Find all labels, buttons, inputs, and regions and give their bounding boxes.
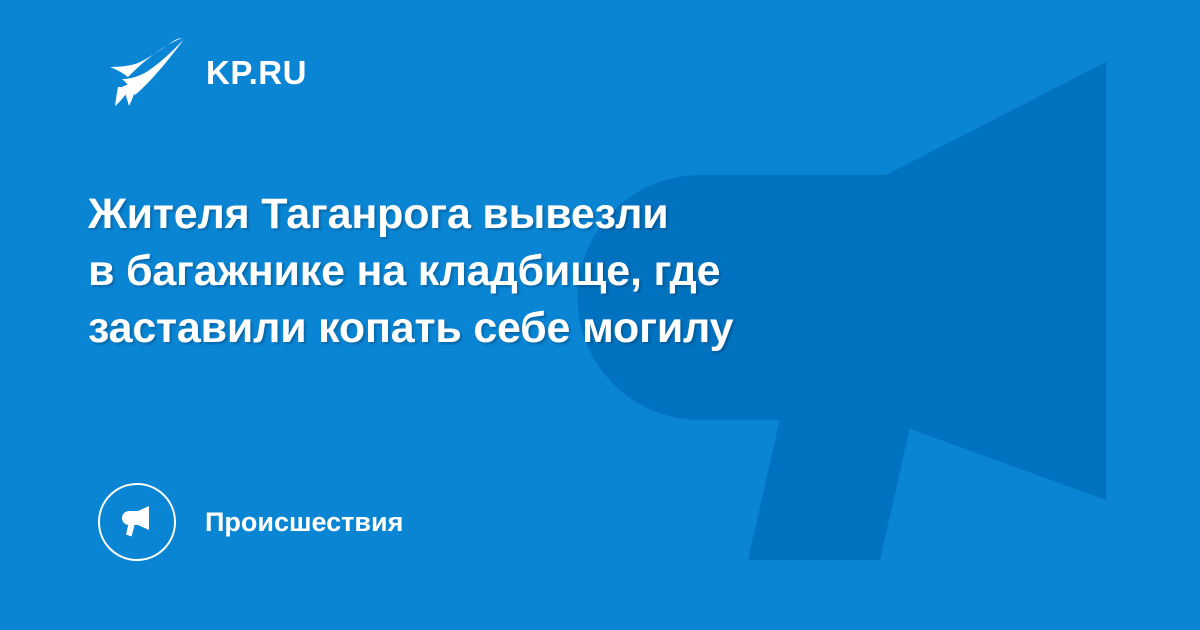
headline-line-2: в багажнике на кладбище, где [88, 243, 988, 300]
headline-line-3: заставили копать себе могилу [88, 300, 988, 357]
headline: Жителя Таганрога вывезли в багажнике на … [88, 186, 988, 357]
category-badge[interactable]: Происшествия [98, 482, 403, 562]
news-share-card: KP.RU Жителя Таганрога вывезли в багажни… [0, 0, 1200, 630]
headline-line-1: Жителя Таганрога вывезли [88, 186, 988, 243]
category-label: Происшествия [205, 509, 403, 536]
brand-header[interactable]: KP.RU [104, 36, 307, 108]
megaphone-icon [115, 500, 159, 544]
brand-name: KP.RU [206, 56, 307, 89]
swallow-bird-icon [104, 36, 186, 108]
category-icon-ring [98, 483, 176, 561]
